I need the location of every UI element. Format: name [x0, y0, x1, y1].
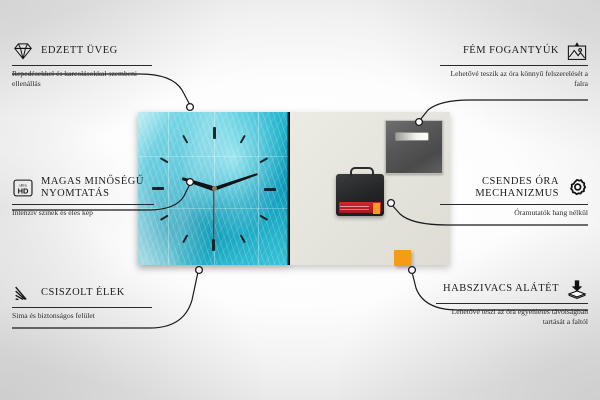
feature-header: ultra HD MAGAS MINŐSÉGŰ NYOMTATÁS [12, 176, 154, 201]
divider [436, 303, 588, 304]
feature-title: CSENDES ÓRA MECHANIZMUS [440, 176, 559, 201]
svg-text:HD: HD [18, 187, 29, 196]
feature-header: CSISZOLT ÉLEK [12, 282, 152, 304]
clock-mechanism [336, 174, 384, 216]
divider [12, 307, 152, 308]
feature-title: EDZETT ÜVEG [41, 45, 118, 57]
feature-quiet-mechanism: CSENDES ÓRA MECHANIZMUS Óramutatók hang … [440, 176, 588, 218]
divider [440, 65, 588, 66]
divider [12, 65, 152, 66]
feature-header: HABSZIVACS ALÁTÉT [436, 278, 588, 300]
picture-hanger-icon [566, 40, 588, 62]
feature-header: EDZETT ÜVEG [12, 40, 152, 62]
feature-title: MAGAS MINŐSÉGŰ NYOMTATÁS [41, 176, 154, 201]
divider [440, 204, 588, 205]
ultra-hd-icon: ultra HD [12, 177, 34, 199]
feature-subtitle: Sima és biztonságos felület [12, 311, 152, 321]
center-cap [212, 186, 217, 191]
gear-icon [566, 177, 588, 199]
feature-header: CSENDES ÓRA MECHANIZMUS [440, 176, 588, 201]
feature-high-quality-print: ultra HD MAGAS MINŐSÉGŰ NYOMTATÁS Intenz… [12, 176, 154, 218]
feature-header: FÉM FOGANTYÚK [440, 40, 588, 62]
feature-foam-pad: HABSZIVACS ALÁTÉT Lehetővé teszi az óra … [436, 278, 588, 327]
feature-subtitle: Óramutatók hang nélkül [440, 208, 588, 218]
clock-front-panel [138, 112, 290, 265]
product-image [138, 112, 450, 265]
metal-hanger-plate [385, 120, 443, 174]
feature-subtitle: Lehetővé teszik az óra könnyű felszerelé… [440, 69, 588, 89]
feature-tempered-glass: EDZETT ÜVEG Repedésekkel és karcolásokka… [12, 40, 152, 89]
feature-title: CSISZOLT ÉLEK [41, 287, 125, 299]
foam-pad-icon [566, 278, 588, 300]
feature-polished-edges: CSISZOLT ÉLEK Sima és biztonságos felüle… [12, 282, 152, 321]
polished-edges-icon [12, 282, 34, 304]
clock-back-panel [290, 112, 450, 265]
diamond-icon [12, 40, 34, 62]
mechanism-battery-marker [373, 203, 380, 214]
clock-face [138, 112, 290, 265]
hanger-keyhole-slot [395, 132, 429, 141]
mechanism-shaft [350, 167, 374, 177]
divider [12, 204, 154, 205]
feature-metal-handles: FÉM FOGANTYÚK Lehetővé teszik az óra kön… [440, 40, 588, 89]
feature-subtitle: Lehetővé teszi az óra egyenletes távolsá… [436, 307, 588, 327]
infographic-canvas: EDZETT ÜVEG Repedésekkel és karcolásokka… [0, 0, 600, 400]
feature-title: FÉM FOGANTYÚK [463, 45, 559, 57]
feature-subtitle: Repedésekkel és karcolásokkal szembeni e… [12, 69, 152, 89]
foam-spacer-pad [394, 250, 411, 266]
feature-subtitle: Intenzív színek és éles kép [12, 208, 154, 218]
feature-title: HABSZIVACS ALÁTÉT [443, 283, 559, 295]
